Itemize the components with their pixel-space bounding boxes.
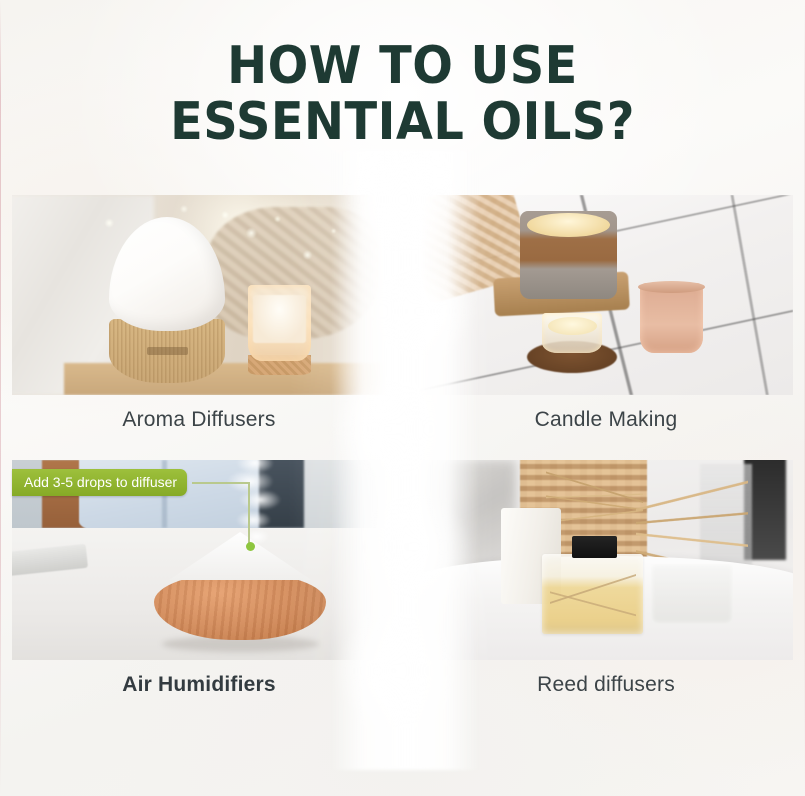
- caption-candle-making: Candle Making: [419, 407, 793, 433]
- page-title: HOW TO USE ESSENTIAL OILS?: [0, 38, 805, 150]
- title-line-2: ESSENTIAL OILS?: [32, 94, 773, 150]
- panel-aroma-diffusers[interactable]: Aroma Diffusers: [12, 195, 386, 455]
- caption-reed-diffusers: Reed diffusers: [419, 672, 793, 698]
- panel-grid: Aroma Diffusers: [12, 195, 793, 735]
- annotation-leader-line-vertical: [248, 482, 250, 544]
- panel-air-humidifiers[interactable]: Add 3-5 drops to diffuser Air Humidifier…: [12, 460, 386, 720]
- caption-air-humidifiers: Air Humidifiers: [12, 672, 386, 698]
- panel-candle-making[interactable]: Candle Making: [419, 195, 793, 455]
- annotation-leader-line: [192, 482, 250, 484]
- photo-aroma-diffusers: [12, 195, 386, 395]
- photo-reed-diffusers: [419, 460, 793, 660]
- infographic-page: HOW TO USE ESSENTIAL OILS?: [0, 0, 805, 796]
- photo-candle-making: [419, 195, 793, 395]
- caption-aroma-diffusers: Aroma Diffusers: [12, 407, 386, 433]
- title-line-1: HOW TO USE: [32, 38, 773, 94]
- annotation-badge[interactable]: Add 3-5 drops to diffuser: [12, 469, 187, 496]
- annotation-target-dot: [246, 542, 255, 551]
- panel-reed-diffusers[interactable]: Reed diffusers: [419, 460, 793, 720]
